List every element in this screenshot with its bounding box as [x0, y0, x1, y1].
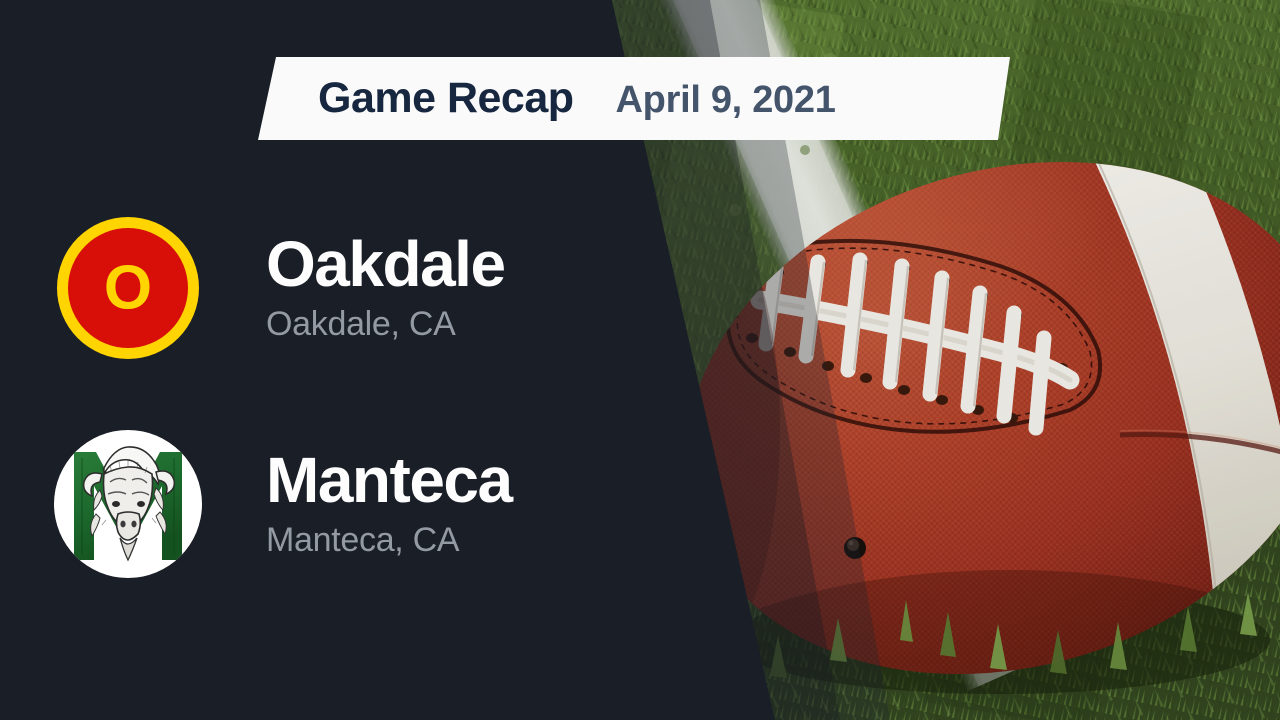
page-title: Game Recap	[318, 77, 574, 120]
team-name-oakdale: Oakdale	[266, 232, 505, 296]
game-recap-graphic: Game Recap April 9, 2021 O Oakdale Oakda…	[0, 0, 1280, 720]
game-date: April 9, 2021	[616, 81, 836, 119]
manteca-logo[interactable]	[52, 428, 204, 580]
team-location-manteca: Manteca, CA	[266, 520, 512, 561]
oakdale-logo[interactable]: O	[52, 212, 204, 364]
team-row-manteca[interactable]: Manteca Manteca, CA	[52, 428, 512, 580]
team-location-oakdale: Oakdale, CA	[266, 304, 505, 345]
header-banner: Game Recap April 9, 2021	[258, 57, 1010, 140]
team-name-manteca: Manteca	[266, 448, 512, 512]
team-row-oakdale[interactable]: O Oakdale Oakdale, CA	[52, 212, 505, 364]
svg-text:O: O	[104, 254, 152, 323]
